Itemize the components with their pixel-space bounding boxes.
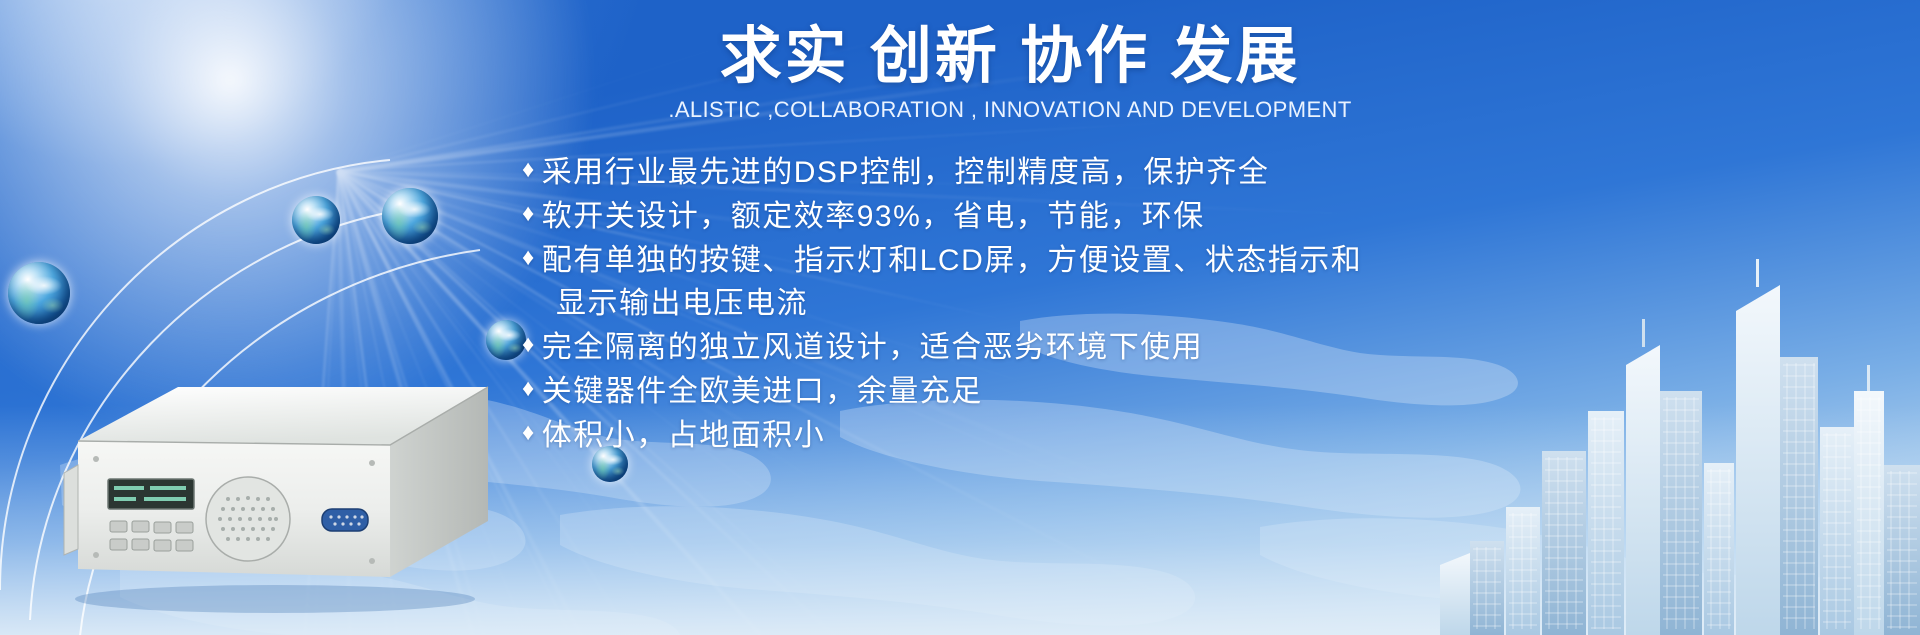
feature-item-label: 配有单独的按键、指示灯和LCD屏，方便设置、状态指示和 (542, 239, 1363, 283)
diamond-bullet-icon: ♦ (522, 370, 536, 407)
feature-list: ♦采用行业最先进的DSP控制，控制精度高，保护齐全♦软开关设计，额定效率93%，… (522, 151, 1510, 458)
banner-content: 求实 创新 协作 发展 .ALISTIC ,COLLABORATION , IN… (510, 14, 1510, 458)
feature-item: 显示输出电压电流 (522, 282, 1510, 326)
feature-item: ♦关键器件全欧美进口，余量充足 (522, 370, 1510, 414)
feature-item: ♦软开关设计，额定效率93%，省电，节能，环保 (522, 195, 1510, 239)
feature-item: ♦配有单独的按键、指示灯和LCD屏，方便设置、状态指示和 (522, 239, 1510, 283)
feature-item: ♦完全隔离的独立风道设计，适合恶劣环境下使用 (522, 326, 1510, 370)
feature-item-label: 关键器件全欧美进口，余量充足 (542, 370, 983, 414)
feature-item-label: 体积小，占地面积小 (542, 414, 826, 458)
globe-icon (292, 196, 340, 244)
globe-icon (382, 188, 438, 244)
page-title: 求实 创新 协作 发展 (510, 24, 1510, 91)
feature-item-label: 采用行业最先进的DSP控制，控制精度高，保护齐全 (542, 151, 1270, 195)
globe-icon (8, 262, 70, 324)
feature-item-label: 显示输出电压电流 (556, 282, 808, 326)
diamond-bullet-icon: ♦ (522, 326, 536, 363)
feature-item: ♦采用行业最先进的DSP控制，控制精度高，保护齐全 (522, 151, 1510, 195)
diamond-bullet-icon: ♦ (522, 195, 536, 232)
diamond-bullet-icon: ♦ (522, 151, 536, 188)
diamond-bullet-icon: ♦ (522, 239, 536, 276)
page-subtitle: .ALISTIC ,COLLABORATION , INNOVATION AND… (510, 97, 1510, 123)
promotional-banner: 求实 创新 协作 发展 .ALISTIC ,COLLABORATION , IN… (0, 0, 1920, 635)
feature-item: ♦体积小，占地面积小 (522, 414, 1510, 458)
feature-item-label: 完全隔离的独立风道设计，适合恶劣环境下使用 (542, 326, 1204, 370)
rack-mount-power-supply (60, 353, 490, 613)
diamond-bullet-icon: ♦ (522, 414, 536, 451)
feature-item-label: 软开关设计，额定效率93%，省电，节能，环保 (542, 195, 1205, 239)
